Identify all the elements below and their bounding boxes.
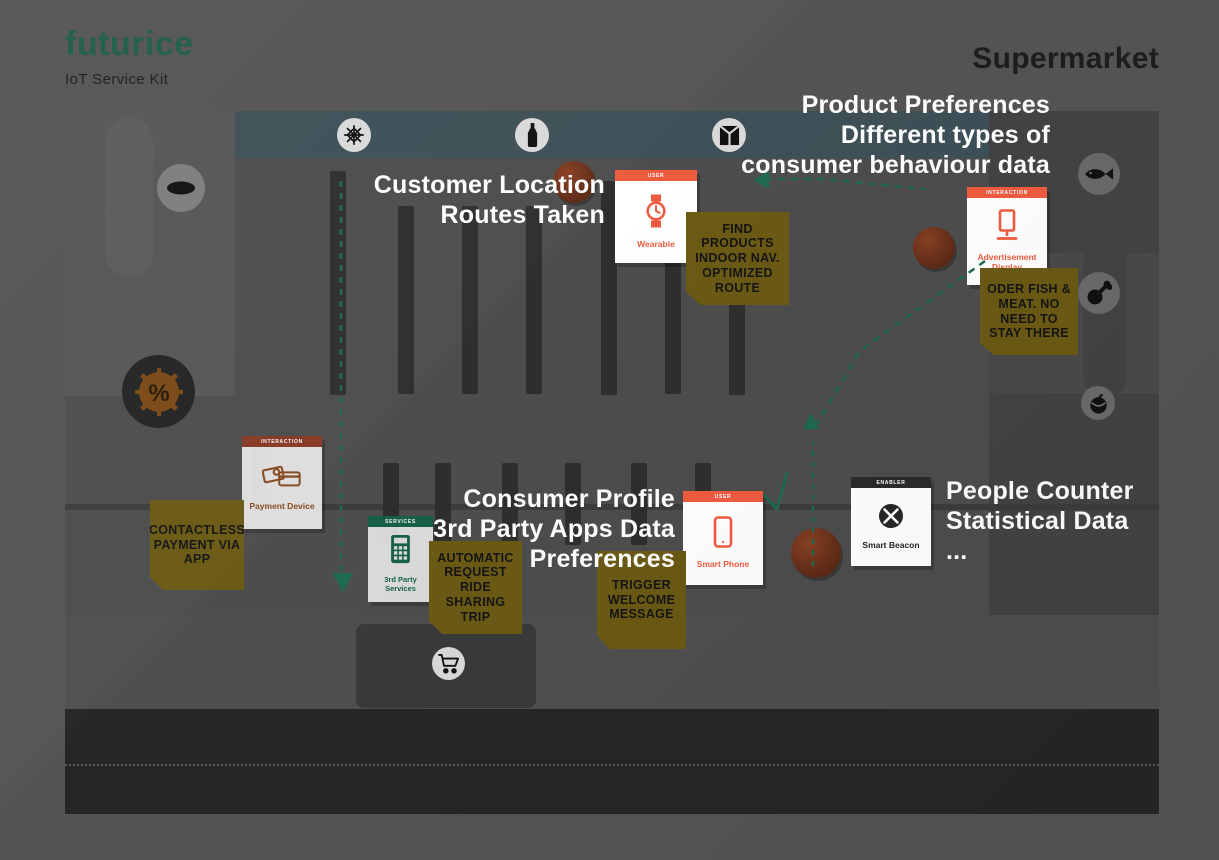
watch-icon: [643, 194, 669, 233]
token-phone[interactable]: [791, 528, 841, 578]
cart-icon: [432, 647, 465, 680]
card-label: Smart Beacon: [862, 541, 919, 551]
snowflake-icon: [337, 118, 371, 152]
smartphone-icon: [713, 516, 733, 553]
card-category-badge: USER: [683, 491, 763, 502]
annotation-product-preferences: Product Preferences Different types of c…: [685, 90, 1050, 180]
note-find-products[interactable]: FIND PRODUCTS INDOOR NAV. OPTIMIZED ROUT…: [686, 212, 789, 305]
supermarket-board: % USER: [65, 111, 1159, 814]
token-display[interactable]: [913, 227, 955, 269]
card-payment-device[interactable]: INTERACTION Payment Device: [242, 436, 322, 529]
zone-entrance-band: [65, 709, 1159, 814]
bread-icon: [157, 164, 205, 212]
card-label: 3rd Party Services: [372, 576, 429, 593]
card-smart-phone[interactable]: USER Smart Phone: [683, 491, 763, 585]
card-label: Payment Device: [249, 502, 314, 512]
annotation-customer-location: Customer Location Routes Taken: [270, 170, 605, 230]
note-order-fish-meat[interactable]: ODER FISH & MEAT. NO NEED TO STAY THERE: [980, 268, 1078, 355]
payment-card-icon: [262, 464, 302, 495]
board-title: Supermarket: [972, 42, 1159, 76]
card-category-badge: INTERACTION: [967, 187, 1047, 198]
card-body: Payment Device: [242, 447, 322, 529]
discount-icon: %: [122, 355, 195, 428]
card-category-badge: INTERACTION: [242, 436, 322, 447]
brand-logo: futurice IoT Service Kit: [65, 27, 194, 88]
display-icon: [993, 209, 1021, 246]
beacon-icon: [878, 503, 904, 534]
annotation-consumer-profile: Consumer Profile 3rd Party Apps Data Pre…: [330, 484, 675, 574]
card-label: Wearable: [637, 240, 675, 250]
shelf-aisle-3: [462, 206, 478, 394]
shelf-bakery: [105, 117, 153, 277]
card-body: Wearable: [615, 181, 697, 263]
meat-icon: [1078, 272, 1120, 314]
logo-wordmark: futurice: [65, 27, 194, 61]
bottle-icon: [515, 118, 549, 152]
svg-text:%: %: [148, 380, 169, 407]
card-smart-beacon[interactable]: ENABLER Smart Beacon: [851, 477, 931, 566]
card-body: Smart Beacon: [851, 488, 931, 566]
shelf-aisle-4: [526, 206, 542, 394]
card-label: Smart Phone: [697, 560, 749, 570]
shelf-meat: [1083, 248, 1127, 398]
card-wearable[interactable]: USER Wearable: [615, 170, 697, 263]
screenshot-root: futurice IoT Service Kit Supermarket: [0, 0, 1219, 860]
annotation-people-counter: People Counter Statistical Data ...: [946, 476, 1196, 566]
card-category-badge: ENABLER: [851, 477, 931, 488]
zone-dotted-divider: [65, 764, 1159, 766]
shelf-aisle-2: [398, 206, 414, 394]
fish-icon: [1078, 153, 1120, 195]
logo-subtitle: IoT Service Kit: [65, 71, 194, 88]
note-contactless-payment[interactable]: CONTACTLESS PAYMENT VIA APP: [150, 500, 244, 590]
card-body: Smart Phone: [683, 502, 763, 585]
fruit-icon: [1081, 386, 1115, 420]
